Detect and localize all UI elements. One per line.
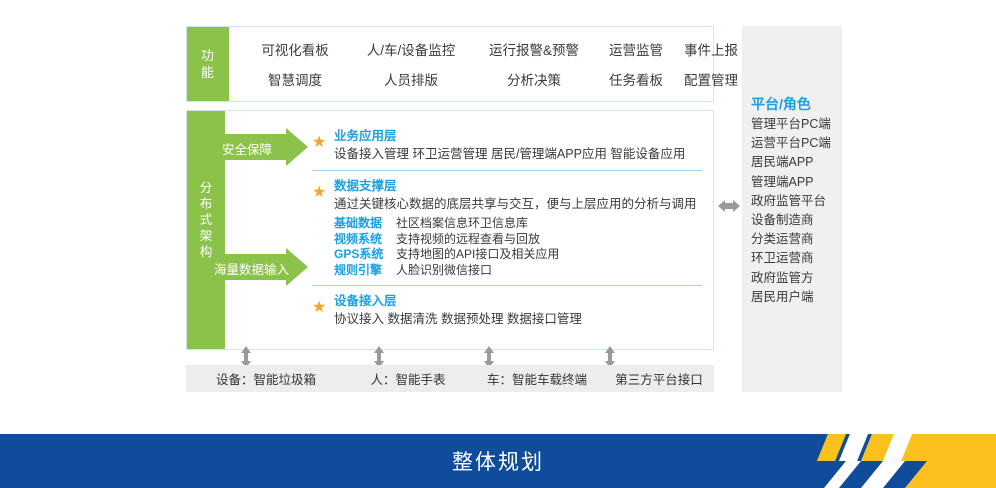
function-item[interactable]: 运营监管	[597, 39, 675, 59]
layer-divider	[312, 170, 702, 171]
function-row-1: 可视化看板 人/车/设备监控 运行报警&预警 运营监管 事件上报	[239, 34, 747, 64]
function-item[interactable]: 人/车/设备监控	[351, 39, 471, 59]
layer-sub-items: 基础数据社区档案信息环卫信息库 视频系统支持视频的远程查看与回放 GPS系统支持…	[334, 216, 697, 278]
sub-item-key: 基础数据	[334, 216, 392, 232]
layer-description: 协议接入 数据清洗 数据预处理 数据接口管理	[334, 311, 582, 328]
function-item[interactable]: 分析决策	[471, 69, 597, 89]
sub-item-value: 人脸识别微信接口	[396, 263, 492, 277]
layer-description: 设备接入管理 环卫运营管理 居民/管理端APP应用 智能设备应用	[334, 146, 685, 163]
platform-role-item[interactable]: 政府监管平台	[751, 192, 831, 211]
bottom-banner: 整体规划	[0, 434, 996, 488]
function-item[interactable]: 人员排版	[351, 69, 471, 89]
platform-role-item[interactable]: 居民端APP	[751, 153, 831, 172]
sub-item[interactable]: 基础数据社区档案信息环卫信息库	[334, 216, 697, 232]
function-item[interactable]: 运行报警&预警	[471, 39, 597, 59]
function-strip: 功 能 可视化看板 人/车/设备监控 运行报警&预警 运营监管 事件上报 智慧调…	[186, 26, 714, 102]
sub-item-key: GPS系统	[334, 247, 392, 263]
spine-char-2: 式	[187, 212, 225, 228]
sub-item-value: 社区档案信息环卫信息库	[396, 216, 528, 230]
slide-canvas: 功 能 可视化看板 人/车/设备监控 运行报警&预警 运营监管 事件上报 智慧调…	[0, 0, 996, 488]
function-label-char-1: 能	[201, 64, 215, 81]
layer-body: 业务应用层 设备接入管理 环卫运营管理 居民/管理端APP应用 智能设备应用	[334, 128, 685, 163]
security-arrow-label: 安全保障	[222, 139, 272, 158]
layer-description: 通过关键核心数据的底层共享与交互，便与上层应用的分析与调用	[334, 196, 697, 213]
function-label-char-0: 功	[201, 47, 215, 64]
spine-char-0: 分	[187, 180, 225, 196]
platform-role-list: 管理平台PC端 运营平台PC端 居民端APP 管理端APP 政府监管平台 设备制…	[751, 115, 831, 307]
platform-role-item[interactable]: 政府监管方	[751, 269, 831, 288]
layer-divider	[312, 285, 702, 286]
star-icon: ★	[312, 300, 328, 316]
sub-item-value: 支持地图的API接口及相关应用	[396, 247, 559, 261]
sub-item[interactable]: 视频系统支持视频的远程查看与回放	[334, 232, 697, 248]
function-item[interactable]: 可视化看板	[239, 39, 351, 59]
layer-title: 设备接入层	[334, 293, 582, 309]
platform-role-title: 平台/角色	[751, 94, 811, 114]
platform-role-item[interactable]: 设备制造商	[751, 211, 831, 230]
layer-title: 数据支撑层	[334, 178, 697, 194]
layer-business-application[interactable]: ★ 业务应用层 设备接入管理 环卫运营管理 居民/管理端APP应用 智能设备应用	[312, 128, 685, 163]
device-bar: 设备：智能垃圾箱 人：智能手表 车：智能车载终端 第三方平台接口	[186, 365, 714, 392]
sub-item[interactable]: GPS系统支持地图的API接口及相关应用	[334, 247, 697, 263]
platform-role-item[interactable]: 分类运营商	[751, 230, 831, 249]
device-item[interactable]: 第三方平台接口	[604, 369, 714, 388]
banner-title: 整体规划	[0, 434, 996, 488]
massive-data-input-arrow-label: 海量数据输入	[214, 259, 289, 278]
horizontal-double-arrow-icon	[718, 196, 740, 216]
device-item[interactable]: 设备：智能垃圾箱	[186, 369, 346, 388]
platform-role-item[interactable]: 管理平台PC端	[751, 115, 831, 134]
star-icon: ★	[312, 185, 328, 201]
device-item[interactable]: 人：智能手表	[346, 369, 470, 388]
massive-data-input-arrow: 海量数据输入	[216, 248, 308, 286]
spine-char-3: 架	[187, 228, 225, 244]
platform-role-item[interactable]: 运营平台PC端	[751, 134, 831, 153]
layer-body: 数据支撑层 通过关键核心数据的底层共享与交互，便与上层应用的分析与调用 基础数据…	[334, 178, 697, 278]
function-strip-rows: 可视化看板 人/车/设备监控 运行报警&预警 运营监管 事件上报 智慧调度 人员…	[229, 27, 757, 101]
layer-device-access[interactable]: ★ 设备接入层 协议接入 数据清洗 数据预处理 数据接口管理	[312, 293, 582, 328]
function-item[interactable]: 任务看板	[597, 69, 675, 89]
layer-title: 业务应用层	[334, 128, 685, 144]
star-icon: ★	[312, 135, 328, 151]
layer-body: 设备接入层 协议接入 数据清洗 数据预处理 数据接口管理	[334, 293, 582, 328]
platform-role-item[interactable]: 居民用户端	[751, 288, 831, 307]
sub-item-key: 视频系统	[334, 232, 392, 248]
security-arrow: 安全保障	[216, 128, 308, 166]
sub-item[interactable]: 规则引擎人脸识别微信接口	[334, 263, 697, 279]
function-item[interactable]: 智慧调度	[239, 69, 351, 89]
function-item[interactable]: 事件上报	[675, 39, 747, 59]
platform-role-item[interactable]: 环卫运营商	[751, 249, 831, 268]
sub-item-value: 支持视频的远程查看与回放	[396, 232, 540, 246]
spine-char-1: 布	[187, 196, 225, 212]
platform-role-item[interactable]: 管理端APP	[751, 173, 831, 192]
function-strip-label: 功 能	[187, 27, 229, 101]
function-item[interactable]: 配置管理	[675, 69, 747, 89]
layer-data-support[interactable]: ★ 数据支撑层 通过关键核心数据的底层共享与交互，便与上层应用的分析与调用 基础…	[312, 178, 697, 278]
device-item[interactable]: 车：智能车载终端	[470, 369, 604, 388]
function-row-2: 智慧调度 人员排版 分析决策 任务看板 配置管理	[239, 64, 747, 94]
sub-item-key: 规则引擎	[334, 263, 392, 279]
